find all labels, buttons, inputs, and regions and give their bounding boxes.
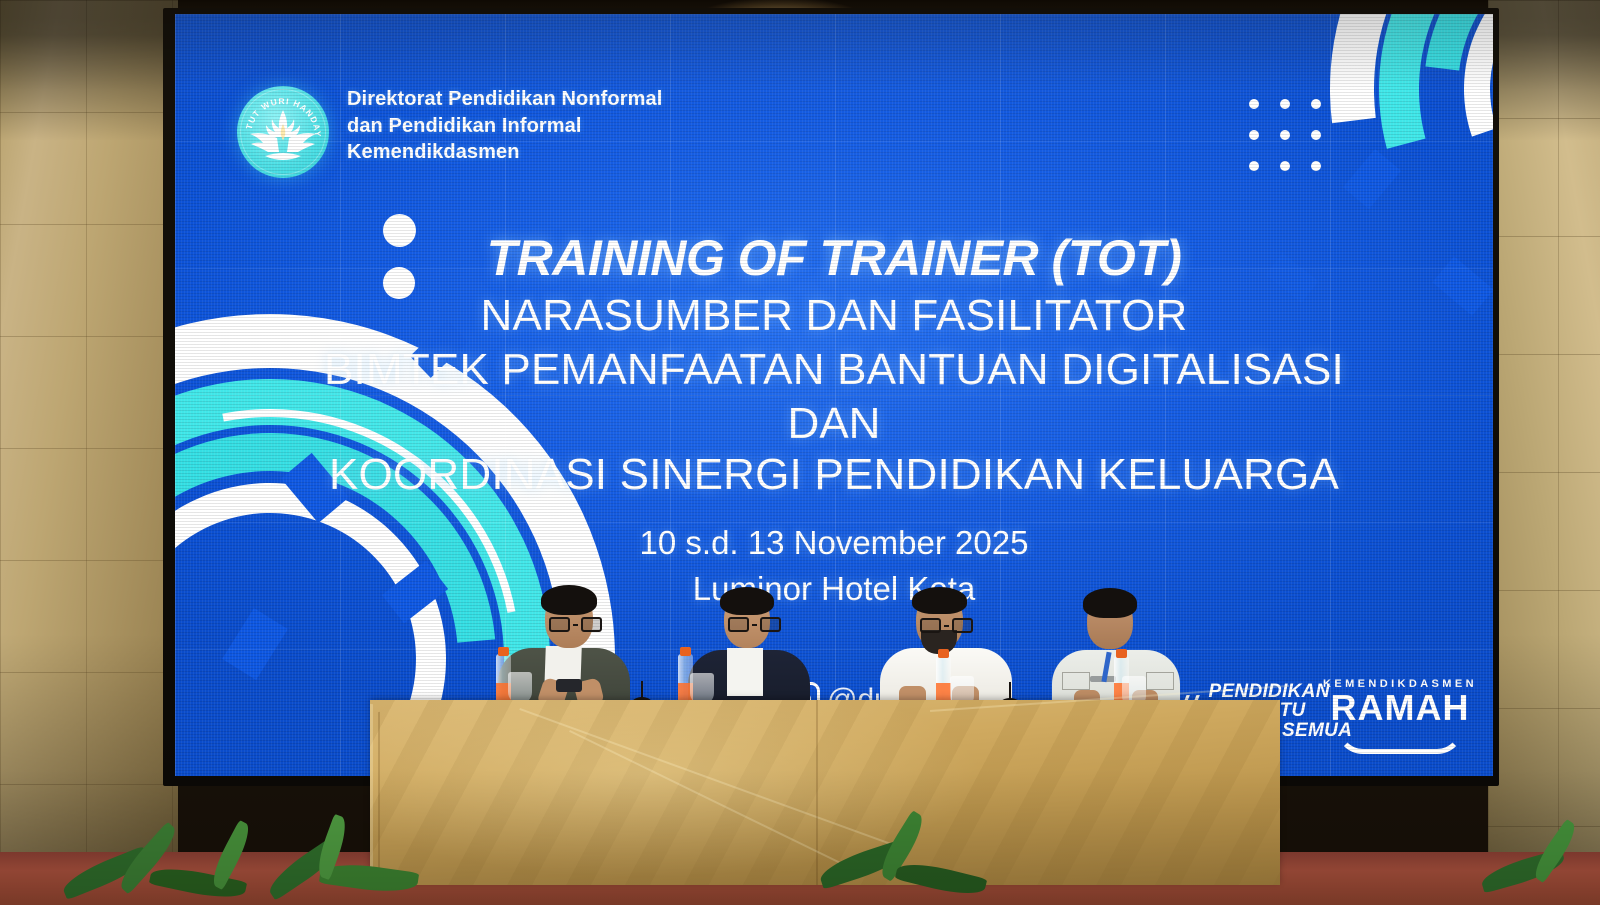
ramah-wordmark: RAMAH xyxy=(1323,691,1477,726)
organizer-name: Direktorat Pendidikan Nonformal dan Pend… xyxy=(347,86,662,166)
event-title-line3: BIMTEK PEMANFAATAN BANTUAN DIGITALISASI xyxy=(175,345,1493,395)
smile-icon xyxy=(1336,727,1464,754)
photo-scene: TUT WURI HANDAYANI Direktorat Pendidikan… xyxy=(0,0,1600,905)
logo-kemendikdasmen-ramah: KEMENDIKDASMEN RAMAH xyxy=(1323,678,1477,754)
event-title-main: TRAINING OF TRAINER (TOT) xyxy=(175,229,1493,287)
panel-table xyxy=(370,700,1280,885)
event-title-line2: NARASUMBER DAN FASILITATOR xyxy=(175,291,1493,341)
led-backdrop-screen: TUT WURI HANDAYANI Direktorat Pendidikan… xyxy=(175,14,1493,776)
wall-panel-left xyxy=(0,0,178,880)
organizer-line-2: dan Pendidikan Informal xyxy=(347,113,662,140)
event-title-line4: DAN xyxy=(175,399,1493,449)
tut-wuri-handayani-emblem: TUT WURI HANDAYANI xyxy=(237,86,329,178)
organizer-line-1: Direktorat Pendidikan Nonformal xyxy=(347,86,662,113)
dot-matrix-decor xyxy=(1249,99,1321,171)
event-dates: 10 s.d. 13 November 2025 xyxy=(175,524,1493,562)
event-title-line5: KOORDINASI SINERGI PENDIDIKAN KELUARGA xyxy=(175,450,1493,500)
event-venue: Luminor Hotel Kota xyxy=(175,570,1493,608)
wall-panel-right xyxy=(1488,0,1600,880)
screen-header: TUT WURI HANDAYANI Direktorat Pendidikan… xyxy=(237,86,662,178)
organizer-line-3: Kemendikdasmen xyxy=(347,139,662,166)
